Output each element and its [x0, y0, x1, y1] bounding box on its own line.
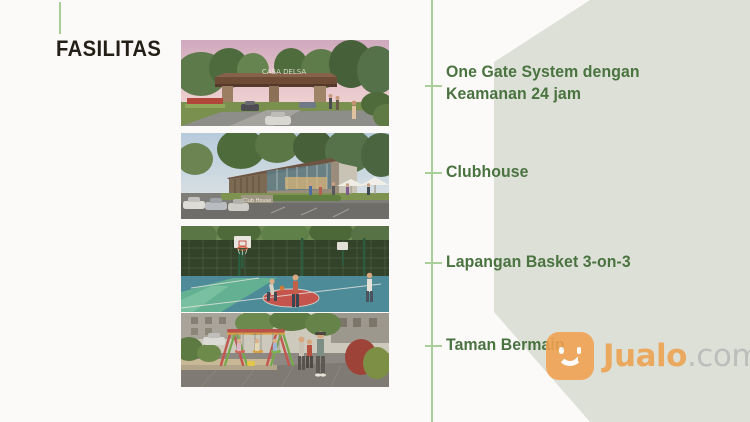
facility-photo-clubhouse: Club House — [181, 133, 389, 219]
jualo-wordmark: Jualo.com — [603, 341, 750, 372]
jualo-smiley-icon — [546, 332, 594, 380]
title-accent-mark — [59, 2, 61, 34]
timeline-vertical-line — [431, 0, 433, 422]
jualo-watermark: Jualo.com — [546, 332, 750, 380]
feature-label-2: Clubhouse — [446, 161, 529, 183]
feature-label-3: Lapangan Basket 3-on-3 — [446, 251, 631, 273]
timeline-tick-4 — [425, 345, 442, 347]
jualo-brand-text: Jualo — [603, 338, 687, 374]
page-title: FASILITAS — [56, 36, 161, 62]
slide-canvas: FASILITAS — [0, 0, 750, 422]
facility-photo-gate: CASA DELSA — [181, 40, 389, 126]
timeline-tick-1 — [425, 85, 442, 87]
facility-photo-playground — [181, 313, 389, 387]
feature-label-1: One Gate System dengan Keamanan 24 jam — [446, 61, 640, 105]
facility-photo-basketball — [181, 226, 389, 312]
jualo-tld-text: .com — [687, 338, 750, 374]
svg-text:CASA DELSA: CASA DELSA — [262, 68, 307, 76]
timeline-tick-3 — [425, 262, 442, 264]
smiley-mouth — [557, 349, 583, 366]
timeline-tick-2 — [425, 172, 442, 174]
